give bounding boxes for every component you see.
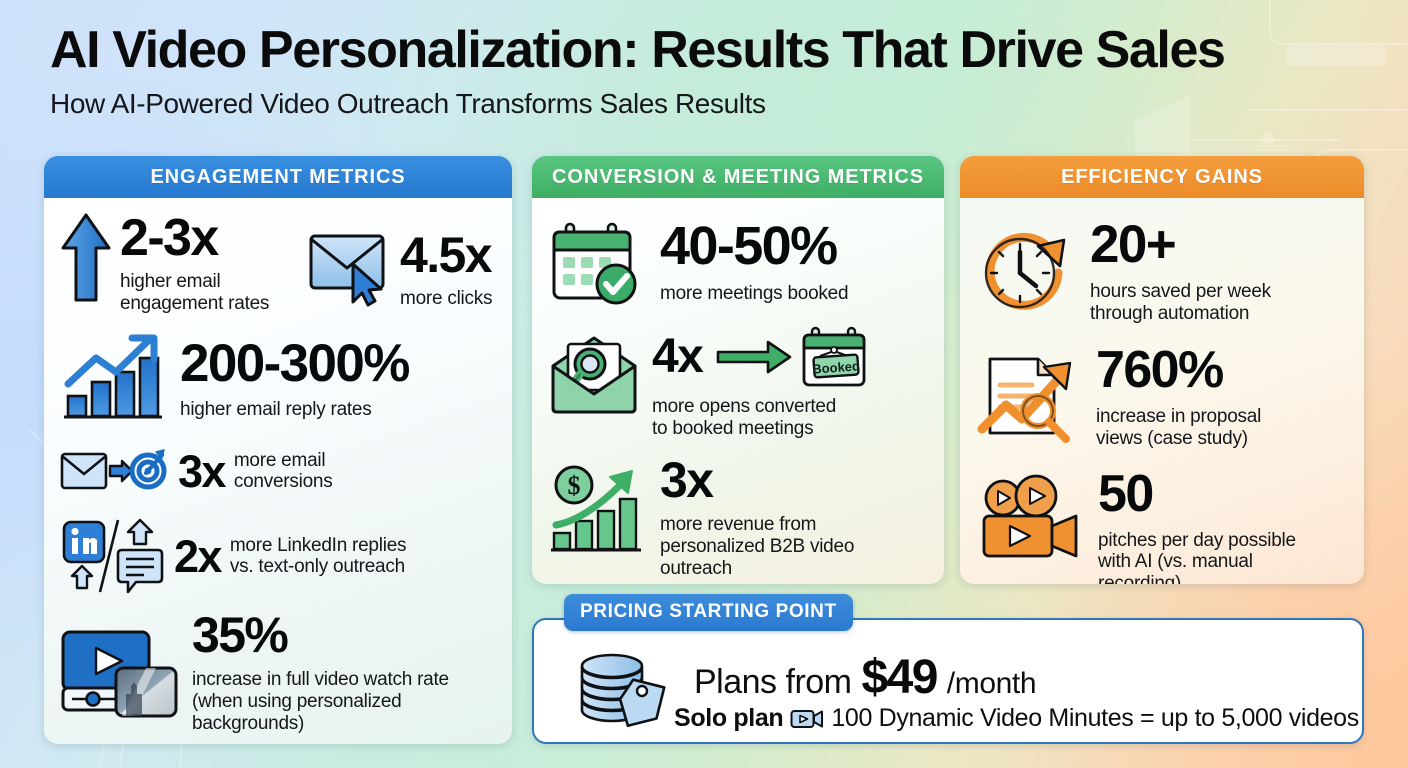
stat-proposal-views-text: 760% increase in proposal views (case st… xyxy=(1096,344,1261,449)
pricing-plan-line: Solo plan 100 Dynamic Video Minutes = up… xyxy=(674,704,1359,733)
email-cursor-icon xyxy=(308,228,392,302)
panel-conversion-body: 40-50% more meetings booked 4x xyxy=(532,198,944,584)
revenue-growth-icon: $ xyxy=(548,463,644,555)
stat-caption: increase in full video watch rate (when … xyxy=(192,669,449,734)
panel-efficiency-gains: EFFICIENCY GAINS xyxy=(960,156,1364,584)
stat-proposal-views: 760% increase in proposal views (case st… xyxy=(976,344,1348,449)
email-target-icon xyxy=(60,444,164,498)
stat-caption: pitches per day possible with AI (vs. ma… xyxy=(1098,530,1296,584)
stat-value: 50 xyxy=(1098,468,1296,520)
stat-watch-rate: 35% increase in full video watch rate (w… xyxy=(60,610,496,734)
clock-arrow-icon xyxy=(976,226,1072,316)
panel-engagement-metrics: ENGAGEMENT METRICS 2-3x higher email eng… xyxy=(44,156,512,744)
stat-value: 760% xyxy=(1096,344,1261,396)
stat-email-conversions-text: 3x more email conversions xyxy=(178,449,333,494)
pricing-period: /month xyxy=(947,667,1036,701)
stat-reply-rate-text: 200-300% higher email reply rates xyxy=(180,337,409,421)
stat-linkedin-replies: 2x more LinkedIn replies vs. text-only o… xyxy=(60,516,496,596)
stat-opens-converted-text: 4x Booked xyxy=(652,326,896,439)
page-title: AI Video Personalization: Results That D… xyxy=(50,22,1370,78)
stat-caption: more revenue from personalized B2B video… xyxy=(660,514,854,579)
stat-value: 3x xyxy=(178,449,225,494)
stat-value: 40-50% xyxy=(660,219,848,273)
stat-row: 2-3x higher email engagement rates 4.5x xyxy=(60,212,496,314)
page-subtitle: How AI-Powered Video Outreach Transforms… xyxy=(50,88,1370,120)
stat-hours-saved: 20+ hours saved per week through automat… xyxy=(976,218,1348,324)
email-search-icon xyxy=(548,332,640,416)
stat-reply-rate: 200-300% higher email reply rates xyxy=(60,336,496,422)
stat-opens-converted: 4x Booked xyxy=(548,326,928,439)
pricing-plan-name: Solo plan xyxy=(674,704,783,733)
pricing-badge: PRICING STARTING POINT xyxy=(564,594,853,631)
pricing-box: Plans from $49 /month Solo plan 100 Dyna… xyxy=(532,618,1364,744)
stat-caption: more meetings booked xyxy=(660,283,848,305)
stat-value: 3x xyxy=(660,455,854,505)
stat-hours-saved-text: 20+ hours saved per week through automat… xyxy=(1090,218,1271,324)
video-camera-icon xyxy=(976,478,1080,560)
linkedin-reply-icon xyxy=(60,516,164,596)
arrow-to-booked-calendar-icon: Booked xyxy=(716,326,896,388)
stat-revenue-text: 3x more revenue from personalized B2B vi… xyxy=(660,455,854,579)
stat-meetings-booked-text: 40-50% more meetings booked xyxy=(660,219,848,305)
stat-pitches-per-day: 50 pitches per day possible with AI (vs.… xyxy=(976,468,1348,584)
panel-conversion-heading: CONVERSION & MEETING METRICS xyxy=(532,156,944,198)
panel-engagement-heading: ENGAGEMENT METRICS xyxy=(44,156,512,198)
stat-watch-rate-text: 35% increase in full video watch rate (w… xyxy=(192,610,449,734)
page-header: AI Video Personalization: Results That D… xyxy=(50,22,1370,120)
stat-value: 2x xyxy=(174,534,221,579)
stat-email-conversions: 3x more email conversions xyxy=(60,444,496,498)
panel-efficiency-heading: EFFICIENCY GAINS xyxy=(960,156,1364,198)
stat-meetings-booked: 40-50% more meetings booked xyxy=(548,218,928,306)
coins-tag-icon xyxy=(572,644,674,730)
stat-value: 4x xyxy=(652,333,702,381)
stat-value: 2-3x xyxy=(120,212,269,264)
stat-caption: increase in proposal views (case study) xyxy=(1096,406,1261,449)
document-growth-search-icon xyxy=(976,353,1078,441)
value-with-arrow: 4x Booked xyxy=(652,326,896,388)
video-player-icon xyxy=(60,626,178,718)
stat-engagement-rate: 2-3x higher email engagement rates xyxy=(60,212,308,314)
growth-chart-icon xyxy=(60,336,164,422)
video-camera-small-icon xyxy=(790,707,824,731)
stat-value: 20+ xyxy=(1090,218,1271,271)
stat-more-clicks-text: 4.5x more clicks xyxy=(400,230,492,310)
panel-conversion-metrics: CONVERSION & MEETING METRICS xyxy=(532,156,944,584)
calendar-check-icon xyxy=(548,218,644,306)
stat-revenue: $ 3x more revenue from personalized B2B … xyxy=(548,455,928,579)
panel-engagement-body: 2-3x higher email engagement rates 4.5x xyxy=(44,198,512,744)
up-arrow-icon xyxy=(60,212,112,304)
stat-value: 200-300% xyxy=(180,337,409,390)
stat-caption: more clicks xyxy=(400,288,492,310)
stat-caption: more opens converted to booked meetings xyxy=(652,396,896,439)
svg-text:$: $ xyxy=(568,471,581,500)
panel-efficiency-body: 20+ hours saved per week through automat… xyxy=(960,198,1364,584)
stat-linkedin-replies-text: 2x more LinkedIn replies vs. text-only o… xyxy=(174,534,406,579)
stat-caption: hours saved per week through automation xyxy=(1090,281,1271,324)
pricing-headline: Plans from $49 /month xyxy=(694,650,1036,705)
stat-engagement-rate-text: 2-3x higher email engagement rates xyxy=(120,212,269,314)
pricing-plan-detail: 100 Dynamic Video Minutes = up to 5,000 … xyxy=(831,704,1359,733)
stat-caption: more LinkedIn replies vs. text-only outr… xyxy=(230,535,406,578)
stat-value: 35% xyxy=(192,610,449,660)
pricing-amount: $49 xyxy=(862,650,937,705)
stat-caption: higher email engagement rates xyxy=(120,271,269,314)
pricing-prefix: Plans from xyxy=(694,663,852,702)
stat-caption: higher email reply rates xyxy=(180,399,409,421)
stat-caption: more email conversions xyxy=(234,450,333,493)
stat-value: 4.5x xyxy=(400,230,492,280)
stat-more-clicks: 4.5x more clicks xyxy=(308,228,492,310)
stat-pitches-per-day-text: 50 pitches per day possible with AI (vs.… xyxy=(1098,468,1296,584)
